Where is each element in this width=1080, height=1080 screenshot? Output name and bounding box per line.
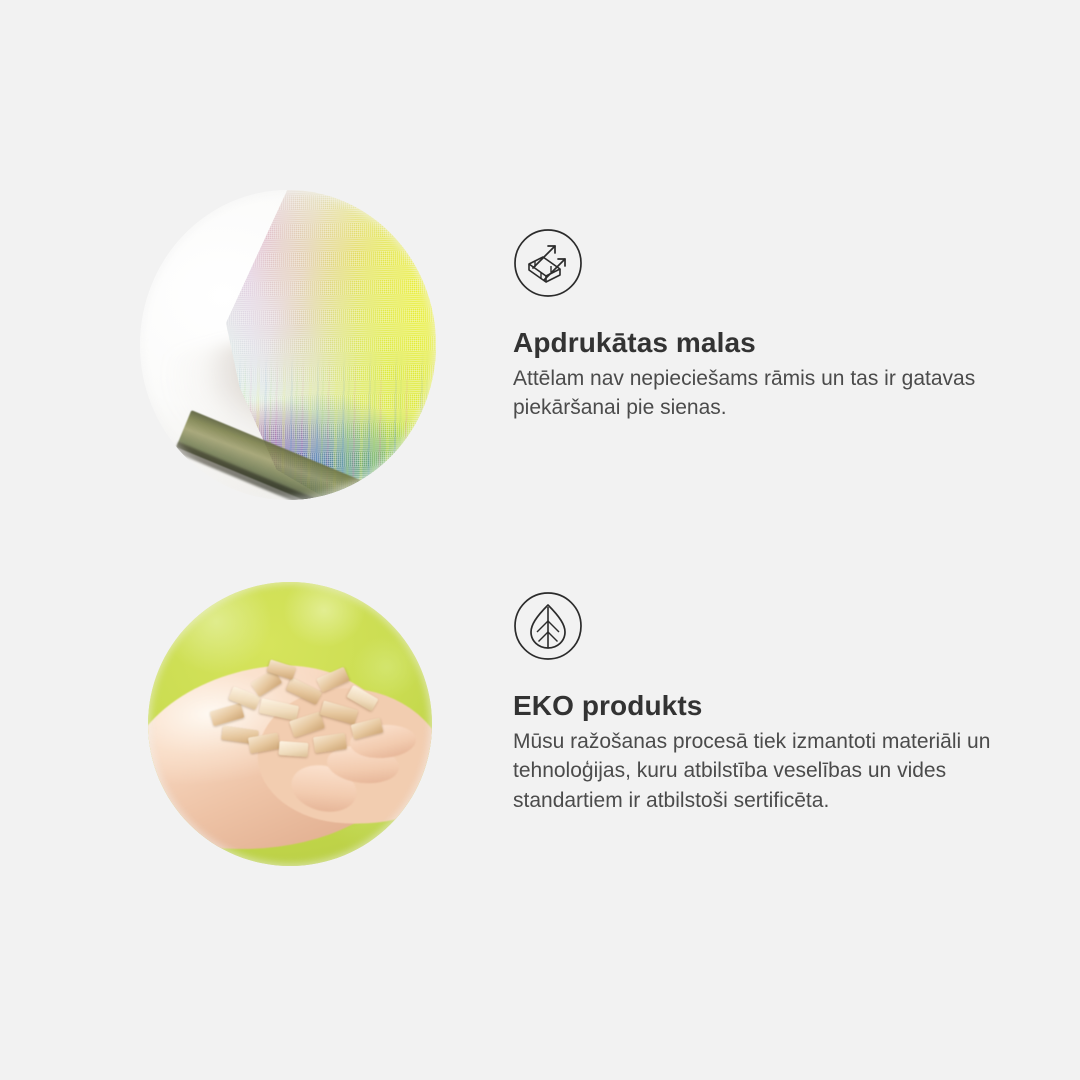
- feature-text-eko: EKO produkts Mūsu ražošanas procesā tiek…: [513, 591, 1023, 816]
- feature-description-eko: Mūsu ražošanas procesā tiek izmantoti ma…: [513, 727, 1023, 816]
- feature-description-printed-edges: Attēlam nav nepieciešams rāmis un tas ir…: [513, 364, 1013, 424]
- wood-chip: [316, 667, 350, 693]
- leaf-icon: [513, 591, 583, 661]
- wood-chip: [346, 685, 378, 711]
- wood-chip: [279, 741, 308, 757]
- wood-chip: [248, 733, 281, 754]
- feature-image-eko: [148, 582, 432, 866]
- hands-holding-wood-chips-photo: [148, 582, 432, 866]
- wood-chip: [350, 718, 383, 740]
- printed-canvas-edges-icon: [513, 228, 583, 298]
- feature-text-printed-edges: Apdrukātas malas Attēlam nav nepieciešam…: [513, 228, 1013, 423]
- feature-image-printed-edges: [140, 190, 436, 500]
- wood-chips-pile: [210, 667, 386, 775]
- wood-chip: [259, 699, 299, 722]
- feature-title-eko: EKO produkts: [513, 689, 1023, 723]
- wood-chip: [320, 700, 359, 725]
- wood-chip: [210, 703, 245, 726]
- feature-title-printed-edges: Apdrukātas malas: [513, 326, 1013, 360]
- wood-chip: [313, 733, 347, 754]
- canvas-corner-photo: [140, 190, 436, 500]
- product-features-infographic: { "page": { "background_color": "#f2f2f2…: [0, 0, 1080, 1080]
